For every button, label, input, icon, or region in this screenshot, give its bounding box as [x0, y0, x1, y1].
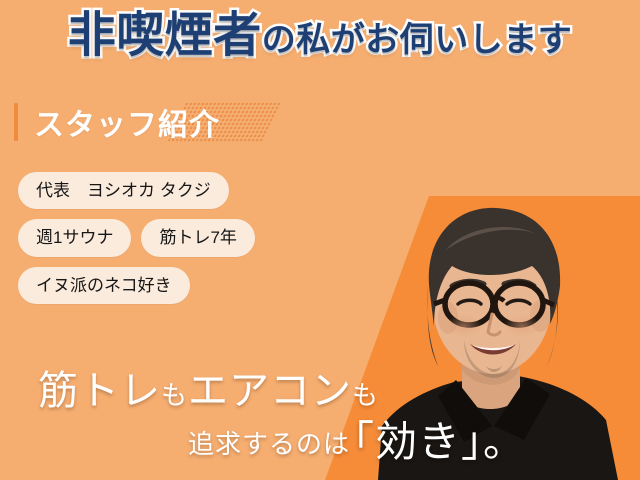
headline: 非喫煙者の私がお伺いします — [0, 12, 640, 60]
tag-pill-training: 筋トレ7年 — [141, 219, 254, 256]
copy-emphasis: 「効き」。 — [332, 408, 526, 469]
section-title: スタッフ紹介 — [34, 100, 220, 144]
tag-pill-name: 代表 ヨシオカ タクジ — [18, 172, 229, 209]
tag-row: 代表 ヨシオカ タクジ — [18, 172, 318, 209]
copy-line1-main-a: 筋トレ — [38, 369, 161, 413]
section-title-group: スタッフ紹介 — [14, 100, 220, 144]
copy-line1-main-b: エアコン — [188, 369, 352, 413]
tag-row: イヌ派のネコ好き — [18, 267, 318, 304]
tag-pill-pets: イヌ派のネコ好き — [18, 267, 190, 304]
copy-line-2: 追求するのは — [188, 424, 350, 461]
accent-bar — [14, 103, 18, 141]
headline-emphasis: 非喫煙者 — [68, 9, 262, 62]
tag-list: 代表 ヨシオカ タクジ 週1サウナ 筋トレ7年 イヌ派のネコ好き — [18, 172, 318, 314]
tag-pill-sauna: 週1サウナ — [18, 219, 131, 256]
copy-line1-small-a: も — [161, 380, 188, 410]
staff-intro-banner: 非喫煙者の私がお伺いします スタッフ紹介 代表 ヨシオカ タクジ 週1サウナ 筋… — [0, 0, 640, 480]
copy-line-1: 筋トレもエアコンも — [38, 358, 379, 416]
tag-row: 週1サウナ 筋トレ7年 — [18, 219, 318, 256]
headline-rest: の私がお伺いします — [262, 21, 573, 59]
copy-line1-small-b: も — [352, 380, 379, 410]
